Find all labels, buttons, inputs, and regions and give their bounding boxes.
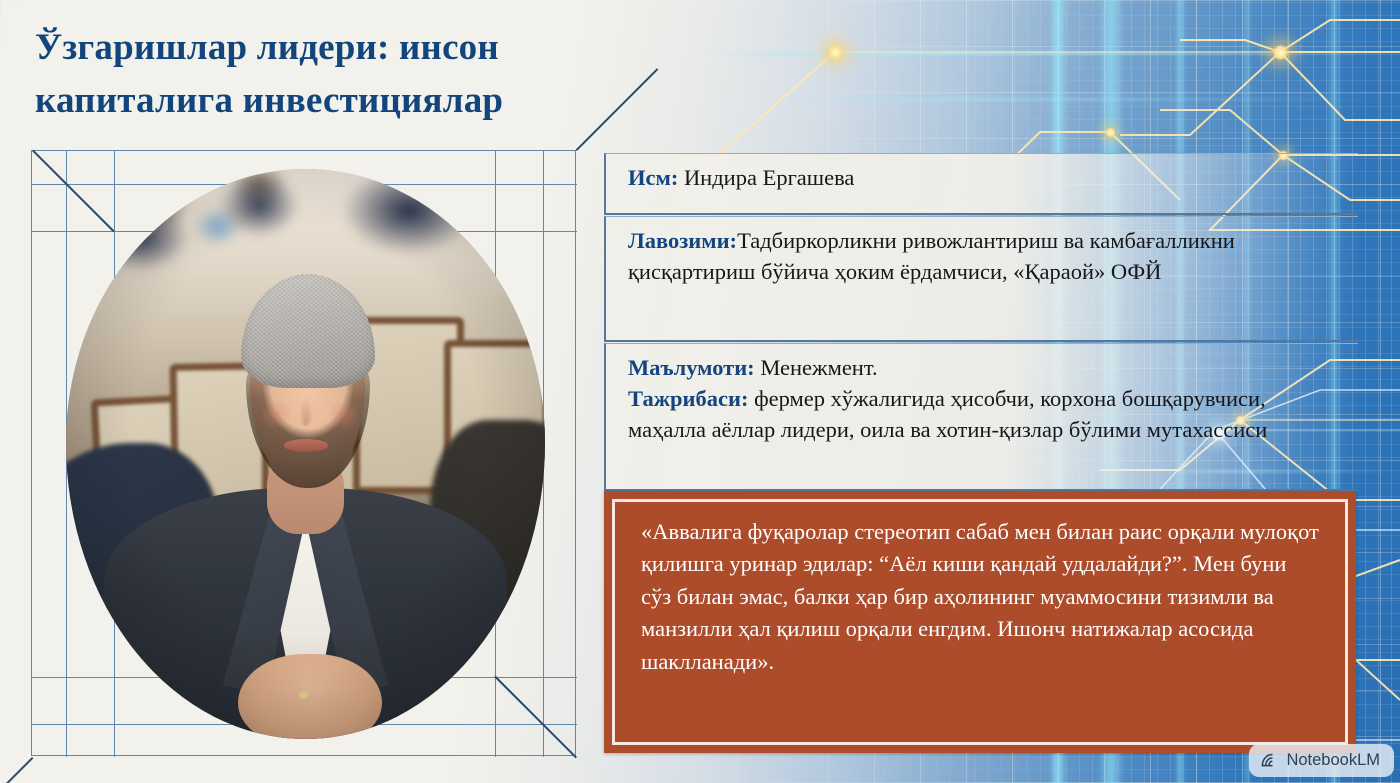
- circuit-node: [827, 44, 844, 61]
- info-card-name: Исм: Индира Ергашева: [604, 153, 1358, 215]
- photo-frame: [31, 150, 576, 756]
- experience-label: Тажрибаси:: [628, 386, 748, 411]
- name-label: Исм:: [628, 165, 678, 190]
- education-label: Маълумоти:: [628, 355, 755, 380]
- circuit-node: [1105, 127, 1116, 138]
- slide-title: Ўзгаришлар лидери: инсон капиталига инве…: [35, 22, 695, 127]
- name-value: Индира Ергашева: [678, 165, 854, 190]
- quote-box: «Аввалига фуқаролар стереотип сабаб мен …: [604, 491, 1356, 753]
- notebooklm-watermark: NotebookLM: [1249, 744, 1394, 777]
- slide-canvas: Ўзгаришлар лидери: инсон капиталига инве…: [0, 0, 1400, 783]
- portrait-photo: [66, 169, 545, 739]
- info-card-position: Лавозими:Тадбиркорликни ривожлантириш ва…: [604, 216, 1358, 342]
- notebooklm-label: NotebookLM: [1286, 751, 1380, 770]
- circuit-node: [1272, 44, 1289, 61]
- info-card-education: Маълумоти: Менежмент. Тажрибаси: фермер …: [604, 343, 1358, 491]
- position-label: Лавозими:: [628, 228, 737, 253]
- quote-text: «Аввалига фуқаролар стереотип сабаб мен …: [612, 499, 1348, 745]
- notebooklm-spiral-icon: [1260, 751, 1279, 770]
- education-value: Менежмент.: [755, 355, 878, 380]
